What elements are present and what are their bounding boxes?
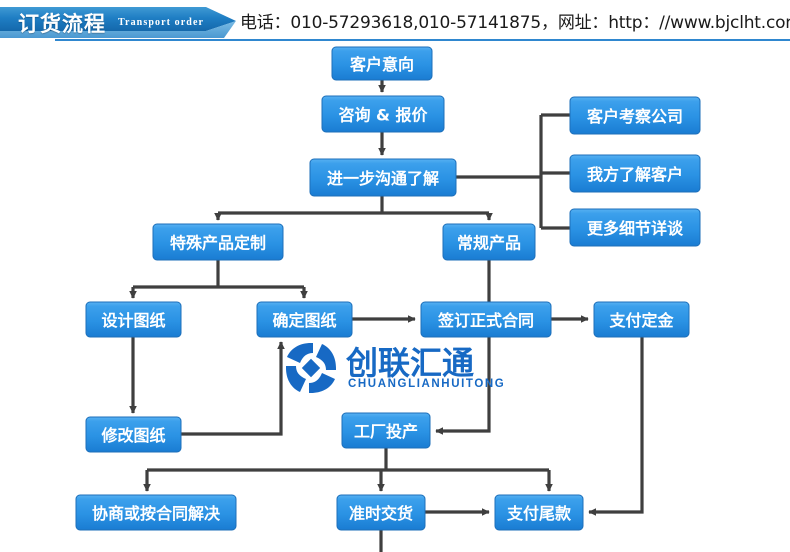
node-we-understand-customer[interactable]: 我方了解客户 (570, 155, 700, 192)
node-label: 常规产品 (457, 234, 521, 253)
node-label: 更多细节详谈 (587, 219, 684, 238)
page-header: 订货流程 Transport order 电话：010-57293618,010… (0, 0, 790, 42)
node-confirm-drawing[interactable]: 确定图纸 (257, 302, 352, 337)
edge-communicate-down-split (218, 196, 489, 213)
node-standard-product[interactable]: 常规产品 (443, 224, 535, 260)
node-label: 修改图纸 (100, 426, 165, 445)
node-design-drawing[interactable]: 设计图纸 (86, 302, 181, 337)
node-label: 支付尾款 (506, 504, 572, 523)
node-revise-drawing[interactable]: 修改图纸 (86, 417, 181, 452)
node-further-communication[interactable]: 进一步沟通了解 (310, 159, 456, 196)
node-label: 确定图纸 (272, 311, 336, 330)
edge-production-down-split (147, 448, 549, 470)
flowchart-svg: 客户意向 咨询 & 报价 进一步沟通了解 客户考察公司 我方了解客户 更多细节详… (0, 42, 790, 552)
node-label: 我方了解客户 (587, 165, 683, 184)
connector-layer (133, 80, 642, 552)
node-label: 支付定金 (608, 311, 674, 330)
node-label: 准时交货 (349, 504, 413, 523)
node-label: 咨询 & 报价 (338, 106, 428, 125)
node-more-details-discussion[interactable]: 更多细节详谈 (570, 209, 700, 246)
node-label: 签订正式合同 (437, 311, 534, 330)
node-label: 客户意向 (350, 55, 414, 74)
node-label: 客户考察公司 (587, 107, 683, 126)
node-label: 协商或按合同解决 (92, 504, 221, 523)
header-contact-text: 电话：010-57293618,010-57141875，网址：http：//w… (240, 8, 790, 33)
banner-subtitle: Transport order (118, 17, 204, 28)
edge-contract-to-production (436, 337, 489, 431)
node-label: 设计图纸 (101, 311, 165, 330)
edge-deposit-to-final-payment (589, 337, 642, 512)
node-label: 进一步沟通了解 (327, 169, 439, 188)
node-label: 特殊产品定制 (170, 234, 266, 253)
header-divider (55, 39, 790, 41)
node-ontime-delivery[interactable]: 准时交货 (337, 495, 425, 530)
edge-revise-to-confirm-loop (181, 342, 281, 434)
node-customer-visits-company[interactable]: 客户考察公司 (570, 97, 700, 134)
node-custom-product[interactable]: 特殊产品定制 (153, 224, 283, 260)
node-customer-intent[interactable]: 客户意向 (332, 47, 432, 80)
edge-custom-down-split (133, 260, 304, 287)
node-pay-deposit[interactable]: 支付定金 (594, 302, 689, 337)
node-factory-production[interactable]: 工厂投产 (342, 413, 430, 448)
banner-title: 订货流程 (18, 8, 106, 38)
node-label: 工厂投产 (354, 422, 418, 441)
node-sign-formal-contract[interactable]: 签订正式合同 (421, 302, 551, 337)
flowchart-canvas: 客户意向 咨询 & 报价 进一步沟通了解 客户考察公司 我方了解客户 更多细节详… (0, 42, 790, 552)
node-negotiate-or-contract-resolution[interactable]: 协商或按合同解决 (76, 495, 236, 530)
node-pay-final-balance[interactable]: 支付尾款 (495, 495, 583, 530)
node-consult-and-quote[interactable]: 咨询 & 报价 (322, 96, 444, 132)
